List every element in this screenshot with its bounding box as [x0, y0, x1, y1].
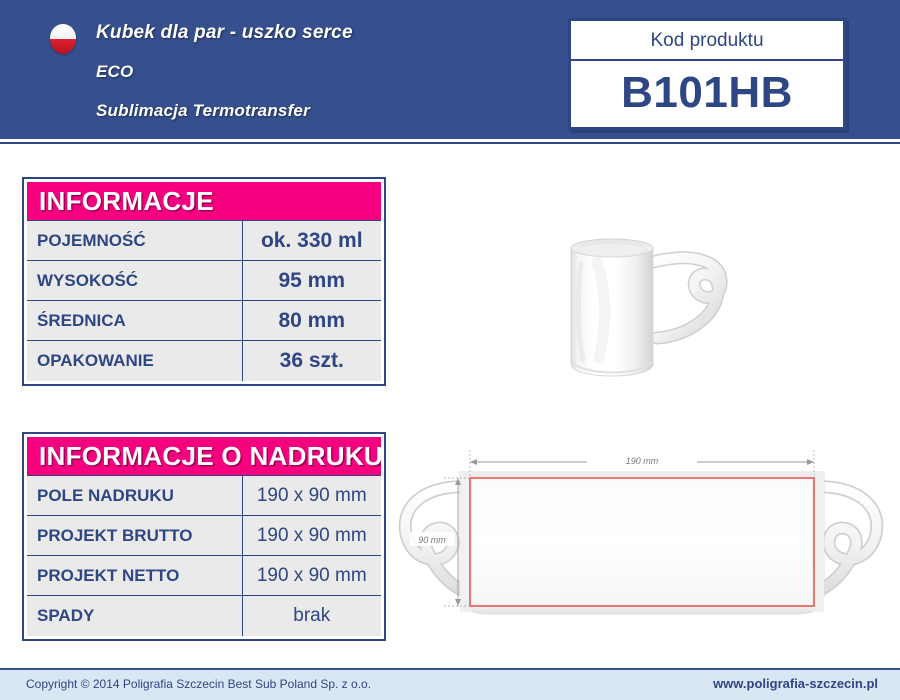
table-row: POLE NADRUKU 190 x 90 mm — [27, 476, 381, 516]
row-label: ŚREDNICA — [27, 301, 242, 341]
informacje-table: INFORMACJE POJEMNOŚĆ ok. 330 ml WYSOKOŚĆ… — [22, 177, 386, 386]
row-value: 80 mm — [242, 301, 381, 341]
row-value: 190 x 90 mm — [242, 556, 381, 596]
header-divider — [0, 142, 900, 144]
copyright-text: Copyright © 2014 Poligrafia Szczecin Bes… — [26, 677, 371, 691]
row-label: POLE NADRUKU — [27, 476, 242, 516]
mug-print-area-diagram: 190 mm 90 mm — [392, 442, 890, 637]
informacje-table-body: POJEMNOŚĆ ok. 330 ml WYSOKOŚĆ 95 mm ŚRED… — [27, 220, 381, 381]
table-row: OPAKOWANIE 36 szt. — [27, 341, 381, 381]
row-label: PROJEKT NETTO — [27, 556, 242, 596]
product-line-eco: ECO — [96, 62, 133, 82]
row-label: PROJEKT BRUTTO — [27, 516, 242, 556]
informacje-o-nadruku-table-heading: INFORMACJE O NADRUKU — [27, 437, 381, 475]
row-label: WYSOKOŚĆ — [27, 261, 242, 301]
informacje-table-heading: INFORMACJE — [27, 182, 381, 220]
row-label: OPAKOWANIE — [27, 341, 242, 381]
page-header: Kubek dla par - uszko serce ECO Sublimac… — [0, 0, 900, 139]
website-url[interactable]: www.poligrafia-szczecin.pl — [713, 676, 878, 691]
row-value: brak — [242, 596, 381, 636]
dimension-height-label: 90 mm — [418, 535, 446, 545]
informacje-o-nadruku-table: INFORMACJE O NADRUKU POLE NADRUKU 190 x … — [22, 432, 386, 641]
informacje-o-nadruku-table-body: POLE NADRUKU 190 x 90 mm PROJEKT BRUTTO … — [27, 475, 381, 636]
dimension-width-label: 190 mm — [626, 456, 659, 466]
table-row: ŚREDNICA 80 mm — [27, 301, 381, 341]
table-row: WYSOKOŚĆ 95 mm — [27, 261, 381, 301]
product-code-box: Kod produktu B101HB — [568, 18, 846, 130]
product-code-label: Kod produktu — [571, 21, 843, 61]
row-value: 190 x 90 mm — [242, 476, 381, 516]
flag-gloss-highlight — [53, 26, 67, 37]
row-value: ok. 330 ml — [242, 221, 381, 261]
row-label: POJEMNOŚĆ — [27, 221, 242, 261]
white-mug-heart-handle-photo — [545, 212, 775, 392]
row-value: 95 mm — [242, 261, 381, 301]
row-value: 36 szt. — [242, 341, 381, 381]
row-label: SPADY — [27, 596, 242, 636]
product-technique: Sublimacja Termotransfer — [96, 101, 310, 121]
table-row: PROJEKT NETTO 190 x 90 mm — [27, 556, 381, 596]
table-row: PROJEKT BRUTTO 190 x 90 mm — [27, 516, 381, 556]
table-row: POJEMNOŚĆ ok. 330 ml — [27, 221, 381, 261]
mug-illustration-svg — [545, 212, 775, 392]
flag-red-band — [50, 39, 76, 54]
product-code-value: B101HB — [571, 61, 843, 127]
page-footer: Copyright © 2014 Poligrafia Szczecin Bes… — [0, 670, 900, 700]
print-area-svg: 190 mm 90 mm — [392, 442, 890, 637]
table-row: SPADY brak — [27, 596, 381, 636]
poland-flag-icon — [50, 24, 76, 54]
product-title: Kubek dla par - uszko serce — [96, 22, 353, 44]
row-value: 190 x 90 mm — [242, 516, 381, 556]
